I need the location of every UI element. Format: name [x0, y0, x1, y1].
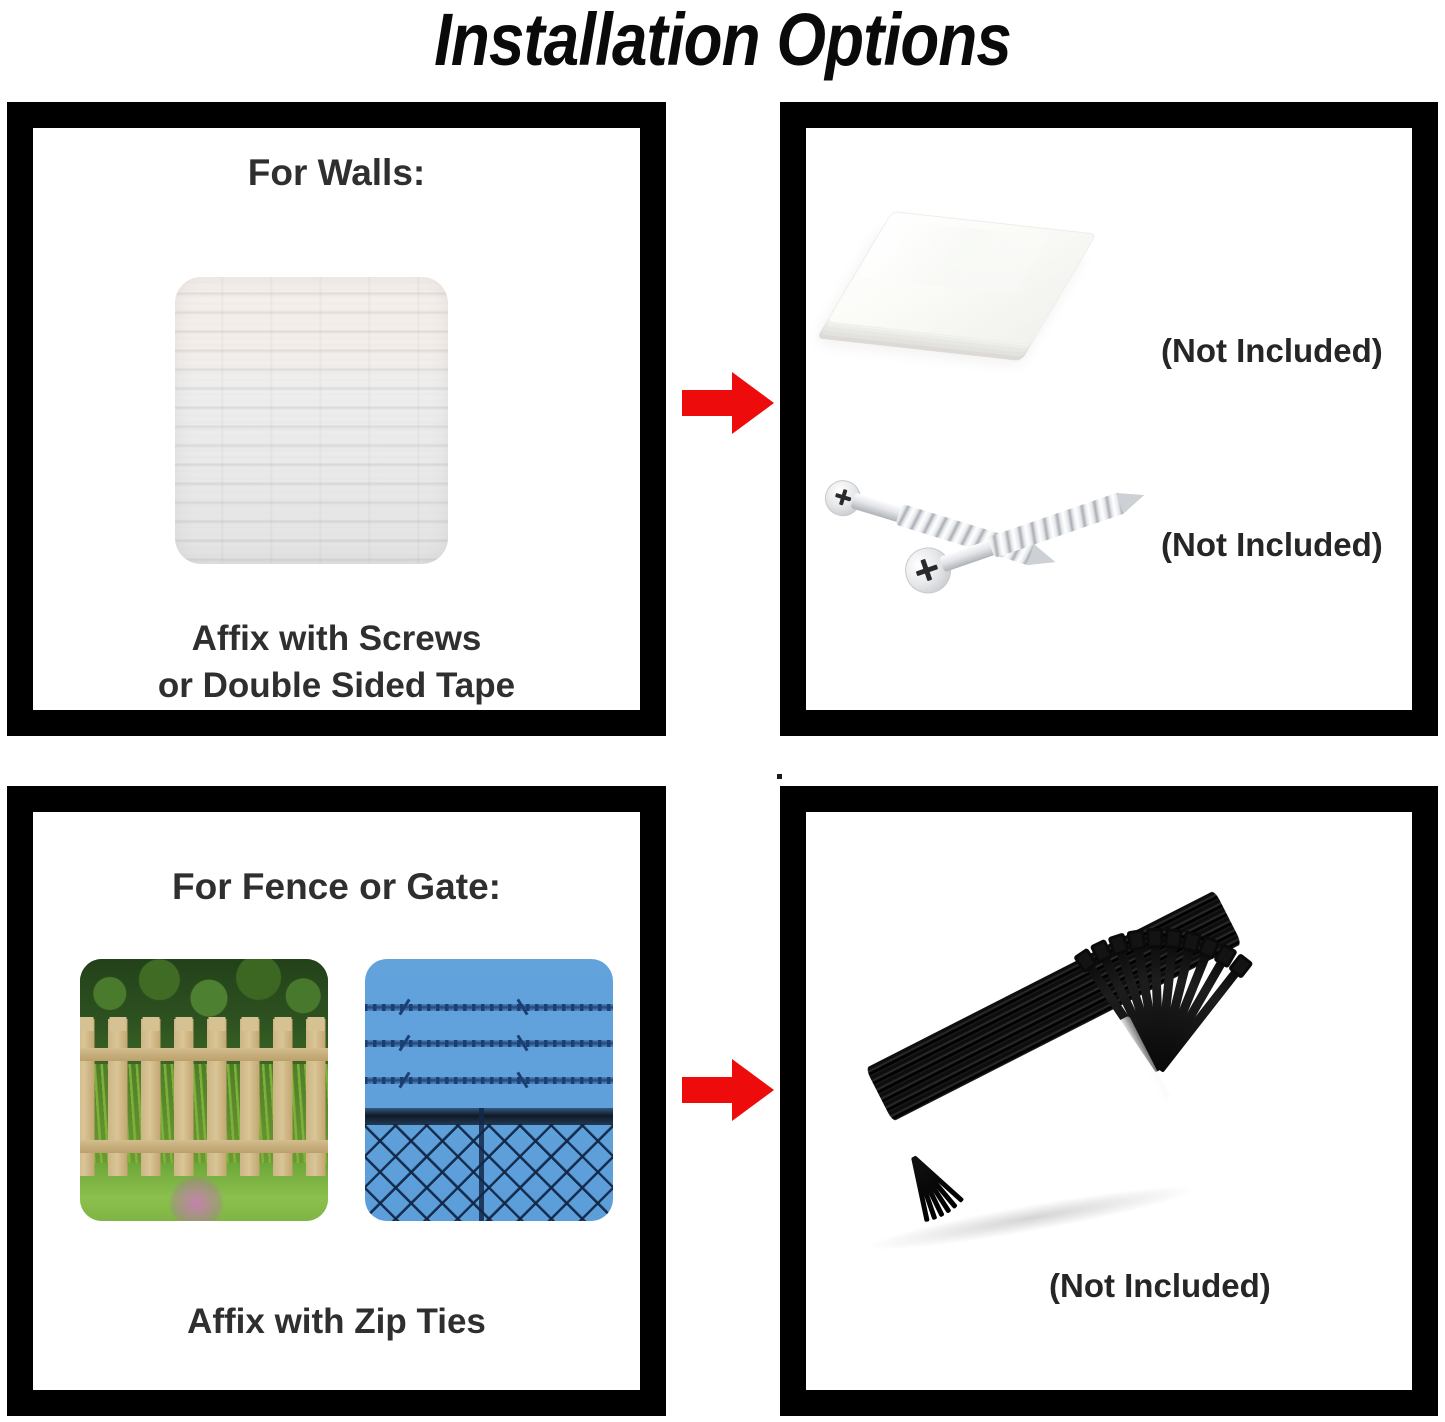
- fence-picket-caps: [80, 1017, 328, 1031]
- zip-ties-not-included-label: (Not Included): [1049, 1267, 1271, 1305]
- panel-for-walls: For Walls: Affix with Screws or Double S…: [7, 102, 666, 736]
- black-zip-ties-bundle-image: [843, 905, 1313, 1275]
- red-right-arrow-bottom: [682, 1057, 774, 1123]
- chain-link-scene: [365, 959, 613, 1221]
- fence-rail-bottom: [80, 1140, 328, 1153]
- panel-wall-hardware: (Not Included) (Not Included): [780, 102, 1438, 736]
- for-walls-caption-line1: Affix with Screws: [33, 616, 640, 663]
- white-brick-wall-image: [175, 277, 448, 564]
- panel-fence-hardware-inner: (Not Included): [806, 812, 1412, 1390]
- panel-wall-hardware-inner: (Not Included) (Not Included): [806, 128, 1412, 710]
- for-fence-heading: For Fence or Gate:: [33, 866, 640, 908]
- fence-post: [365, 1108, 613, 1221]
- chain-link-fence-image: [365, 959, 613, 1221]
- for-walls-caption-line2: or Double Sided Tape: [33, 663, 640, 710]
- scan-artifact-speck: [777, 774, 782, 779]
- purple-ground-patch: [169, 1176, 224, 1221]
- double-sided-tape-stack-image: [853, 222, 1085, 374]
- fence-pickets: [80, 1019, 328, 1176]
- panel-fence-hardware: (Not Included): [780, 786, 1438, 1416]
- page-title: Installation Options: [101, 0, 1344, 83]
- screw-thread-lower: [988, 492, 1128, 558]
- for-walls-heading: For Walls:: [33, 152, 640, 194]
- wood-fence-scene: [80, 959, 328, 1221]
- for-fence-caption: Affix with Zip Ties: [33, 1299, 640, 1346]
- tape-not-included-label: (Not Included): [1161, 332, 1383, 370]
- barbed-wire-strand-2: [365, 1040, 613, 1047]
- panel-for-walls-inner: For Walls: Affix with Screws or Double S…: [33, 128, 640, 710]
- zip-tie-tapered-tips: [861, 1157, 971, 1229]
- barbed-wire-strand-1: [365, 1004, 613, 1011]
- panel-for-fence-or-gate: For Fence or Gate:: [7, 786, 666, 1416]
- screw-tip-lower: [1116, 485, 1148, 514]
- wooden-picket-fence-image: [80, 959, 328, 1221]
- fence-rail-top: [80, 1048, 328, 1061]
- screws-not-included-label: (Not Included): [1161, 526, 1383, 564]
- barbed-wire-strand-3: [365, 1077, 613, 1084]
- red-right-arrow-top: [682, 370, 774, 436]
- panel-for-fence-inner: For Fence or Gate:: [33, 812, 640, 1390]
